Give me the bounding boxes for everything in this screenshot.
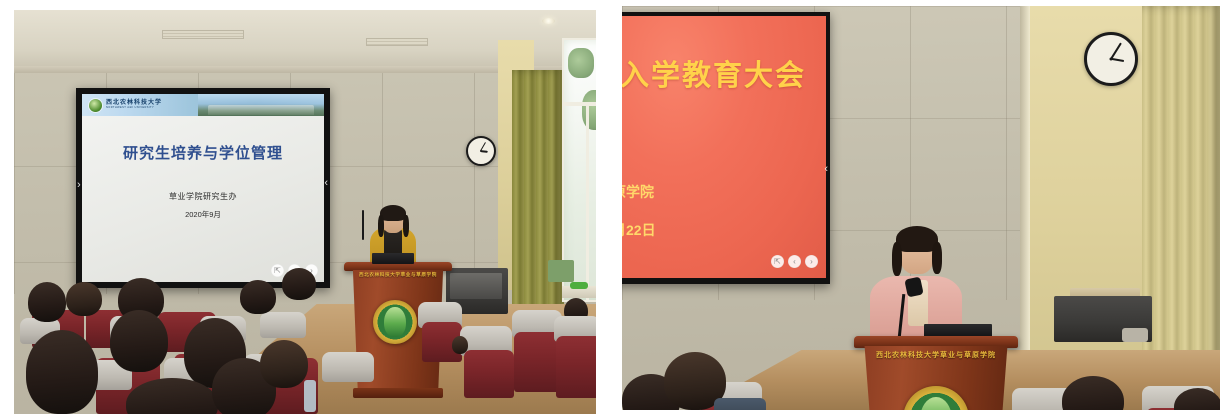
right-curtain [1142,6,1220,410]
right-audience-shoulder [714,398,766,410]
screenshot-root: 西北农林科技大学 NORTHWEST A&F UNIVERSITY 研究生培养与… [0,0,1230,420]
left-green-bin [548,260,574,282]
left-seat-side-4 [556,336,596,398]
left-slide-share-icon[interactable]: ⇱ [271,264,284,277]
left-projector-screen-frame: 西北农林科技大学 NORTHWEST A&F UNIVERSITY 研究生培养与… [76,88,330,288]
right-clock-hour-hand [1111,58,1124,63]
right-wall-clock [1084,32,1138,86]
left-curtain [512,70,564,320]
left-window-foliage-2 [582,90,596,130]
left-audience-head-side [452,336,468,354]
right-speaker-hair-side-r [932,242,942,274]
photo-right: 入学教育大会 原学院 月22日 ⇱ ‹ › ‹ [622,6,1220,410]
left-audience-head-2 [66,282,102,316]
right-slide: 入学教育大会 原学院 月22日 ⇱ ‹ › [622,16,826,278]
left-audience-head-1 [28,282,66,322]
left-mic-stand [362,210,364,240]
right-podium-text: 西北农林科技大学草业与草原学院 [860,350,1012,360]
right-slide-line-2: 月22日 [622,220,656,240]
right-slide-title: 入学教育大会 [622,52,806,94]
left-window-foliage-1 [568,48,594,78]
left-window-mullion-h [564,102,596,106]
left-ceiling-vent-2 [366,38,428,46]
right-slide-line-1: 原学院 [622,182,654,202]
left-speaker-hair-side-l [378,215,384,237]
left-audience-head-6 [26,330,98,414]
left-audience-head-4 [240,280,276,314]
left-seat-side-2 [464,350,514,398]
left-slide: 西北农林科技大学 NORTHWEST A&F UNIVERSITY 研究生培养与… [82,94,324,282]
left-slide-university-name: 西北农林科技大学 NORTHWEST A&F UNIVERSITY [106,100,162,109]
left-podium-base [353,388,443,398]
right-slide-share-icon[interactable]: ⇱ [771,255,784,268]
left-podium-emblem [373,300,417,344]
left-seat-headrest-r1-4 [260,312,306,338]
right-cabinet-item [1122,328,1148,342]
left-projector-screen: 西北农林科技大学 NORTHWEST A&F UNIVERSITY 研究生培养与… [82,94,324,282]
right-screen-edge-arrow-icon[interactable]: ‹ [824,164,828,175]
left-seat-headrest-r2-4 [322,352,374,382]
left-screen-left-arrow-icon[interactable]: › [77,180,81,191]
right-projector-screen-frame: 入学教育大会 原学院 月22日 ⇱ ‹ › ‹ [622,12,830,284]
right-projector-screen: 入学教育大会 原学院 月22日 ⇱ ‹ › [622,16,826,278]
left-slide-subtitle-2: 2020年9月 [82,209,324,220]
left-slide-banner: 西北农林科技大学 NORTHWEST A&F UNIVERSITY [82,94,324,116]
right-cabinet-panel [1060,302,1146,328]
left-ceiling-vent-1 [162,30,244,39]
left-slide-university-en: NORTHWEST A&F UNIVERSITY [106,107,162,110]
left-podium-laptop [372,253,414,264]
left-window-mullion-v [586,102,589,300]
left-audience-head-5 [282,268,316,300]
right-microphone-icon [904,277,923,298]
right-slide-next-icon[interactable]: › [805,255,818,268]
left-water-bottle [304,380,316,412]
left-audience-head-7 [110,310,168,372]
left-audience-head-11 [260,340,308,388]
left-screen-right-arrow-icon[interactable]: ‹ [324,178,328,189]
right-slide-nav-buttons[interactable]: ⇱ ‹ › [771,255,818,268]
right-wall-corner-edge [1020,6,1030,410]
left-downlight [542,18,555,24]
right-slide-prev-icon[interactable]: ‹ [788,255,801,268]
left-sill-plant [570,282,588,289]
left-wall-clock [466,136,496,166]
right-clock-pin [1110,58,1113,61]
left-podium-text: 西北农林科技大学草业与草原学院 [349,272,447,278]
left-clock-pin [480,150,482,152]
left-speaker-hair [380,205,406,221]
left-slide-title: 研究生培养与学位管理 [82,142,324,163]
university-logo-icon [89,99,102,112]
photo-left: 西北农林科技大学 NORTHWEST A&F UNIVERSITY 研究生培养与… [14,10,596,414]
left-cabinet-panel [450,273,502,299]
right-speaker-hair-side-l [892,242,902,276]
left-slide-subtitle-1: 草业学院研究生办 [82,191,324,202]
left-speaker-hair-side-r [403,215,409,237]
left-slide-banner-photo [198,94,324,116]
